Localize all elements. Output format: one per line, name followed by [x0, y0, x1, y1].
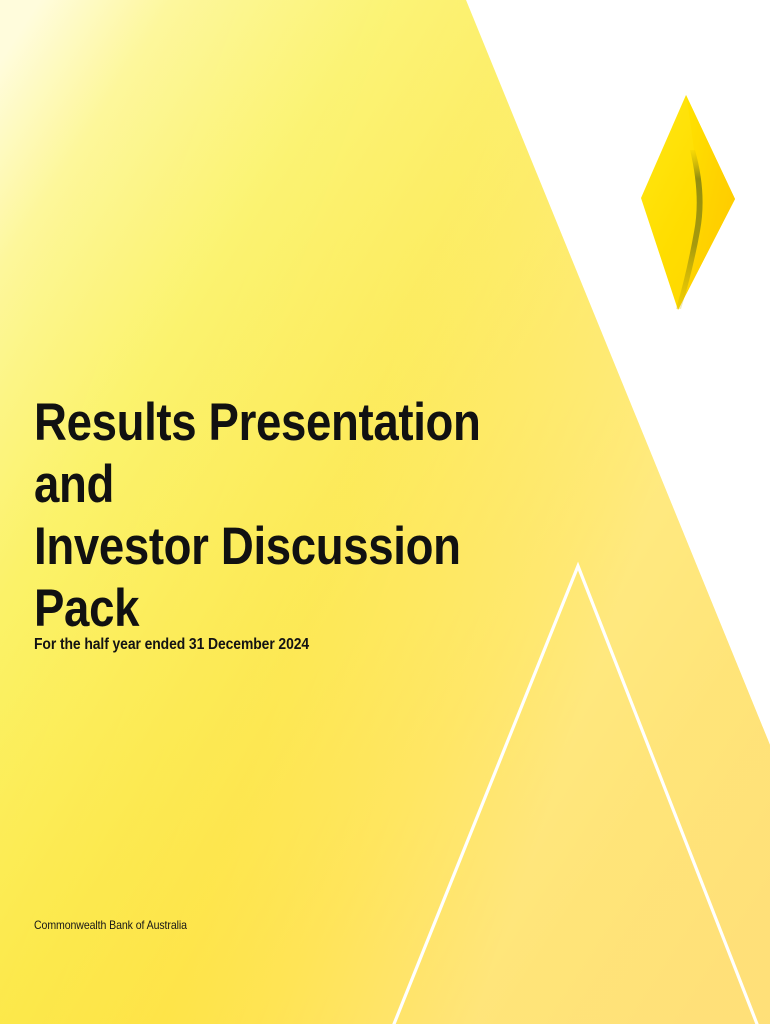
subtitle: For the half year ended 31 December 2024 — [34, 635, 309, 655]
title-block: Results Presentation and Investor Discus… — [34, 392, 554, 640]
presentation-slide: Results Presentation and Investor Discus… — [0, 0, 770, 1024]
footer-company-name: Commonwealth Bank of Australia — [34, 918, 187, 933]
page-title: Results Presentation and Investor Discus… — [34, 392, 481, 640]
